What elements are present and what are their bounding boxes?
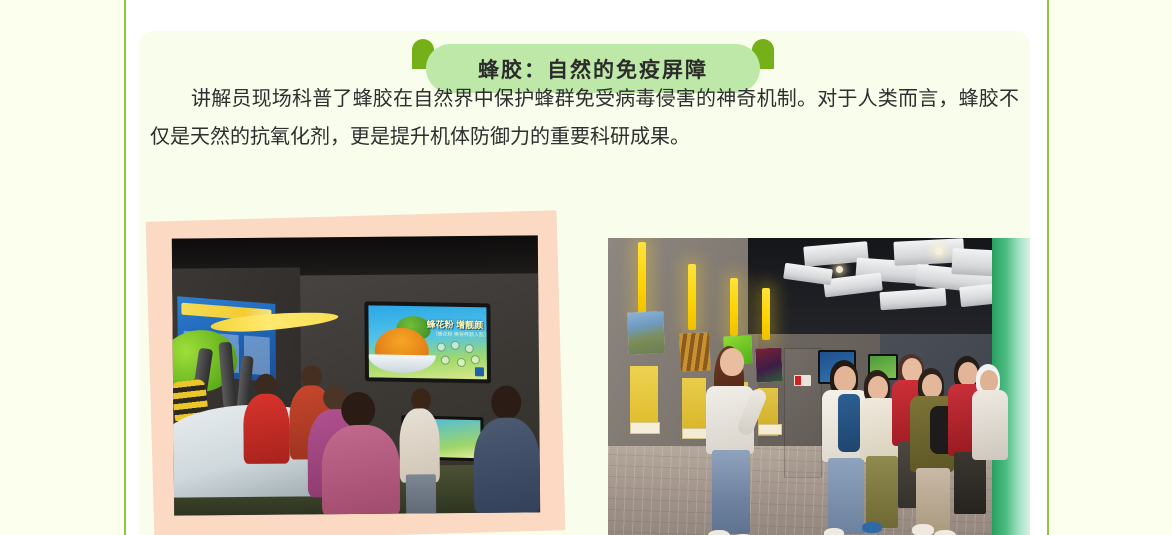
ceiling-spotlight-icon (836, 266, 843, 273)
screen-subheadline: （蜂花粉 美容养颜入肌） (433, 330, 481, 338)
content-card: 蜂胶：自然的免疫屏障 讲解员现场科普了蜂胶在自然界中保护蜂群免受病毒侵害的神奇机… (139, 31, 1030, 535)
screen-headline: 蜂花粉 增靓颜 (426, 317, 481, 331)
guide-shoe (708, 530, 730, 535)
photo-right (608, 238, 1030, 535)
visitor-shoe (912, 524, 934, 535)
photo-left: 蜂花粉 增靓颜 （蜂花粉 美容养颜入肌） (146, 210, 566, 535)
page-right-band (1049, 0, 1172, 535)
body-paragraph: 讲解员现场科普了蜂胶在自然界中保护蜂群免受病毒侵害的神奇机制。对于人类而言，蜂胶… (150, 80, 1019, 156)
visitor-legs (866, 456, 898, 528)
page-title: 蜂胶：自然的免疫屏障 (478, 54, 708, 84)
visitor-body (243, 394, 290, 464)
exhibit-panel-image (679, 332, 710, 371)
left-divider-rule (124, 0, 126, 535)
wall-light-strip (688, 264, 696, 330)
exhibit-main-screen-display: 蜂花粉 增靓颜 （蜂花粉 美容养颜入肌） (368, 305, 487, 379)
exhibit-panel (679, 332, 710, 371)
wall-light-strip (762, 288, 770, 340)
exhibit-panel-image (627, 311, 664, 354)
visitor-inner-top (838, 394, 860, 452)
visitor-torso (972, 390, 1008, 460)
photo-left-image: 蜂花粉 增靓颜 （蜂花粉 美容养颜入肌） (172, 235, 540, 515)
sample-label (758, 424, 782, 435)
visitor-body (473, 417, 540, 514)
sample-label (682, 428, 708, 439)
visitor-body (321, 425, 400, 516)
exhibit-panel (755, 348, 782, 383)
exhibit-panel-image (755, 348, 782, 383)
visitor-shoe (824, 528, 844, 535)
sample-tube (682, 378, 706, 434)
guide-body (399, 408, 440, 482)
visitor-legs (954, 452, 986, 514)
visitor-head (834, 366, 856, 392)
guide-head (720, 348, 744, 376)
visitor-legs (828, 458, 864, 534)
visitor-head (491, 386, 521, 420)
exhibit-panel (627, 311, 664, 354)
screen-logo-icon (475, 367, 484, 376)
visitor-head (868, 376, 888, 400)
guide-legs (712, 450, 750, 534)
wall-light-strip (730, 278, 738, 336)
exhibit-main-screen: 蜂花粉 增靓颜 （蜂花粉 美容养颜入肌） (364, 301, 491, 383)
visitor-head (922, 374, 942, 398)
sample-label (630, 422, 660, 434)
exit-sign (794, 375, 811, 386)
visitor-shoe (934, 530, 956, 535)
photo-row: 蜂花粉 增靓颜 （蜂花粉 美容养颜入肌） (139, 181, 1030, 535)
wall-light-strip (638, 242, 646, 318)
gallery-service-door (784, 348, 822, 478)
visitor-head (958, 362, 978, 386)
right-divider-rule (1047, 0, 1049, 535)
page-left-band (0, 0, 124, 535)
visitor-shoe (862, 522, 882, 533)
guide-legs (406, 474, 436, 515)
sample-tube (630, 366, 658, 428)
visitor-head (980, 370, 998, 392)
ceiling-spotlight-icon (935, 247, 943, 255)
visitor-head (341, 392, 375, 428)
